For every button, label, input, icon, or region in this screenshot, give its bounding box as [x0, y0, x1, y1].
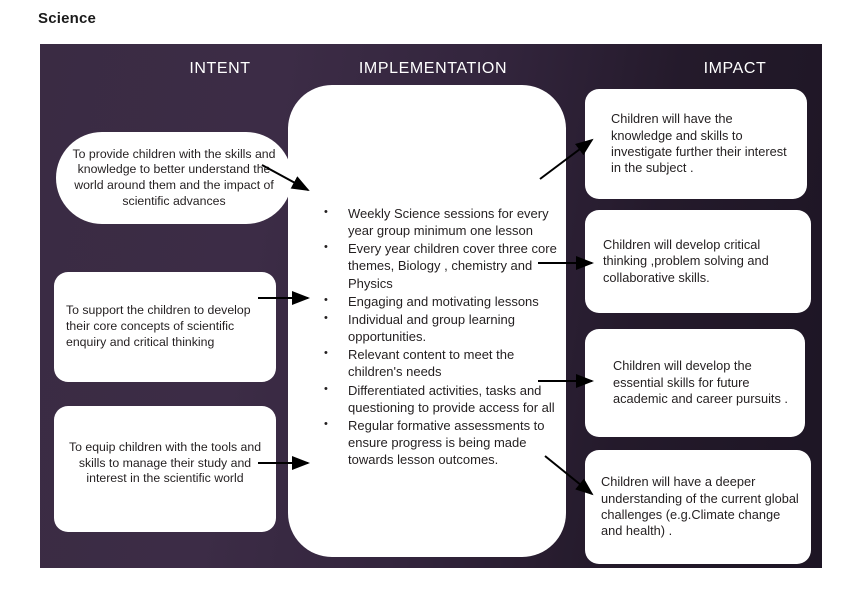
intent-card-2-text: To support the children to develop their… — [66, 303, 264, 350]
intent-card-1[interactable]: To provide children with the skills and … — [56, 132, 292, 224]
impact-card-3-text: Children will develop the essential skil… — [613, 358, 795, 407]
implementation-bullet-1: Weekly Science sessions for every year g… — [348, 205, 570, 239]
implementation-bullet-list: Weekly Science sessions for every year g… — [348, 205, 570, 469]
impact-card-1[interactable]: Children will have the knowledge and ski… — [585, 89, 807, 199]
implementation-bullet-2: Every year children cover three core the… — [348, 240, 570, 291]
impact-card-2-text: Children will develop critical thinking … — [603, 237, 803, 286]
implementation-card[interactable]: Weekly Science sessions for every year g… — [288, 85, 566, 557]
impact-card-4-text: Children will have a deeper understandin… — [601, 474, 803, 540]
implementation-bullet-4: Individual and group learning opportunit… — [348, 311, 570, 345]
intent-card-2[interactable]: To support the children to develop their… — [54, 272, 276, 382]
column-header-impact: IMPACT — [640, 60, 830, 78]
intent-card-1-text: To provide children with the skills and … — [72, 147, 276, 210]
column-header-intent: INTENT — [120, 60, 320, 78]
implementation-bullet-6: Differentiated activities, tasks and que… — [348, 382, 570, 416]
column-header-implementation: IMPLEMENTATION — [308, 60, 558, 78]
implementation-bullet-5: Relevant content to meet the children's … — [348, 346, 570, 380]
diagram-panel: INTENT IMPLEMENTATION IMPACT To provide … — [40, 44, 822, 568]
intent-card-3[interactable]: To equip children with the tools and ski… — [54, 406, 276, 532]
impact-card-2[interactable]: Children will develop critical thinking … — [585, 210, 811, 313]
intent-card-3-text: To equip children with the tools and ski… — [64, 440, 266, 487]
page-title: Science — [38, 10, 96, 27]
impact-card-4[interactable]: Children will have a deeper understandin… — [585, 450, 811, 564]
impact-card-1-text: Children will have the knowledge and ski… — [611, 111, 797, 177]
impact-card-3[interactable]: Children will develop the essential skil… — [585, 329, 805, 437]
implementation-bullet-3: Engaging and motivating lessons — [348, 293, 570, 310]
implementation-bullet-7: Regular formative assessments to ensure … — [348, 417, 570, 468]
